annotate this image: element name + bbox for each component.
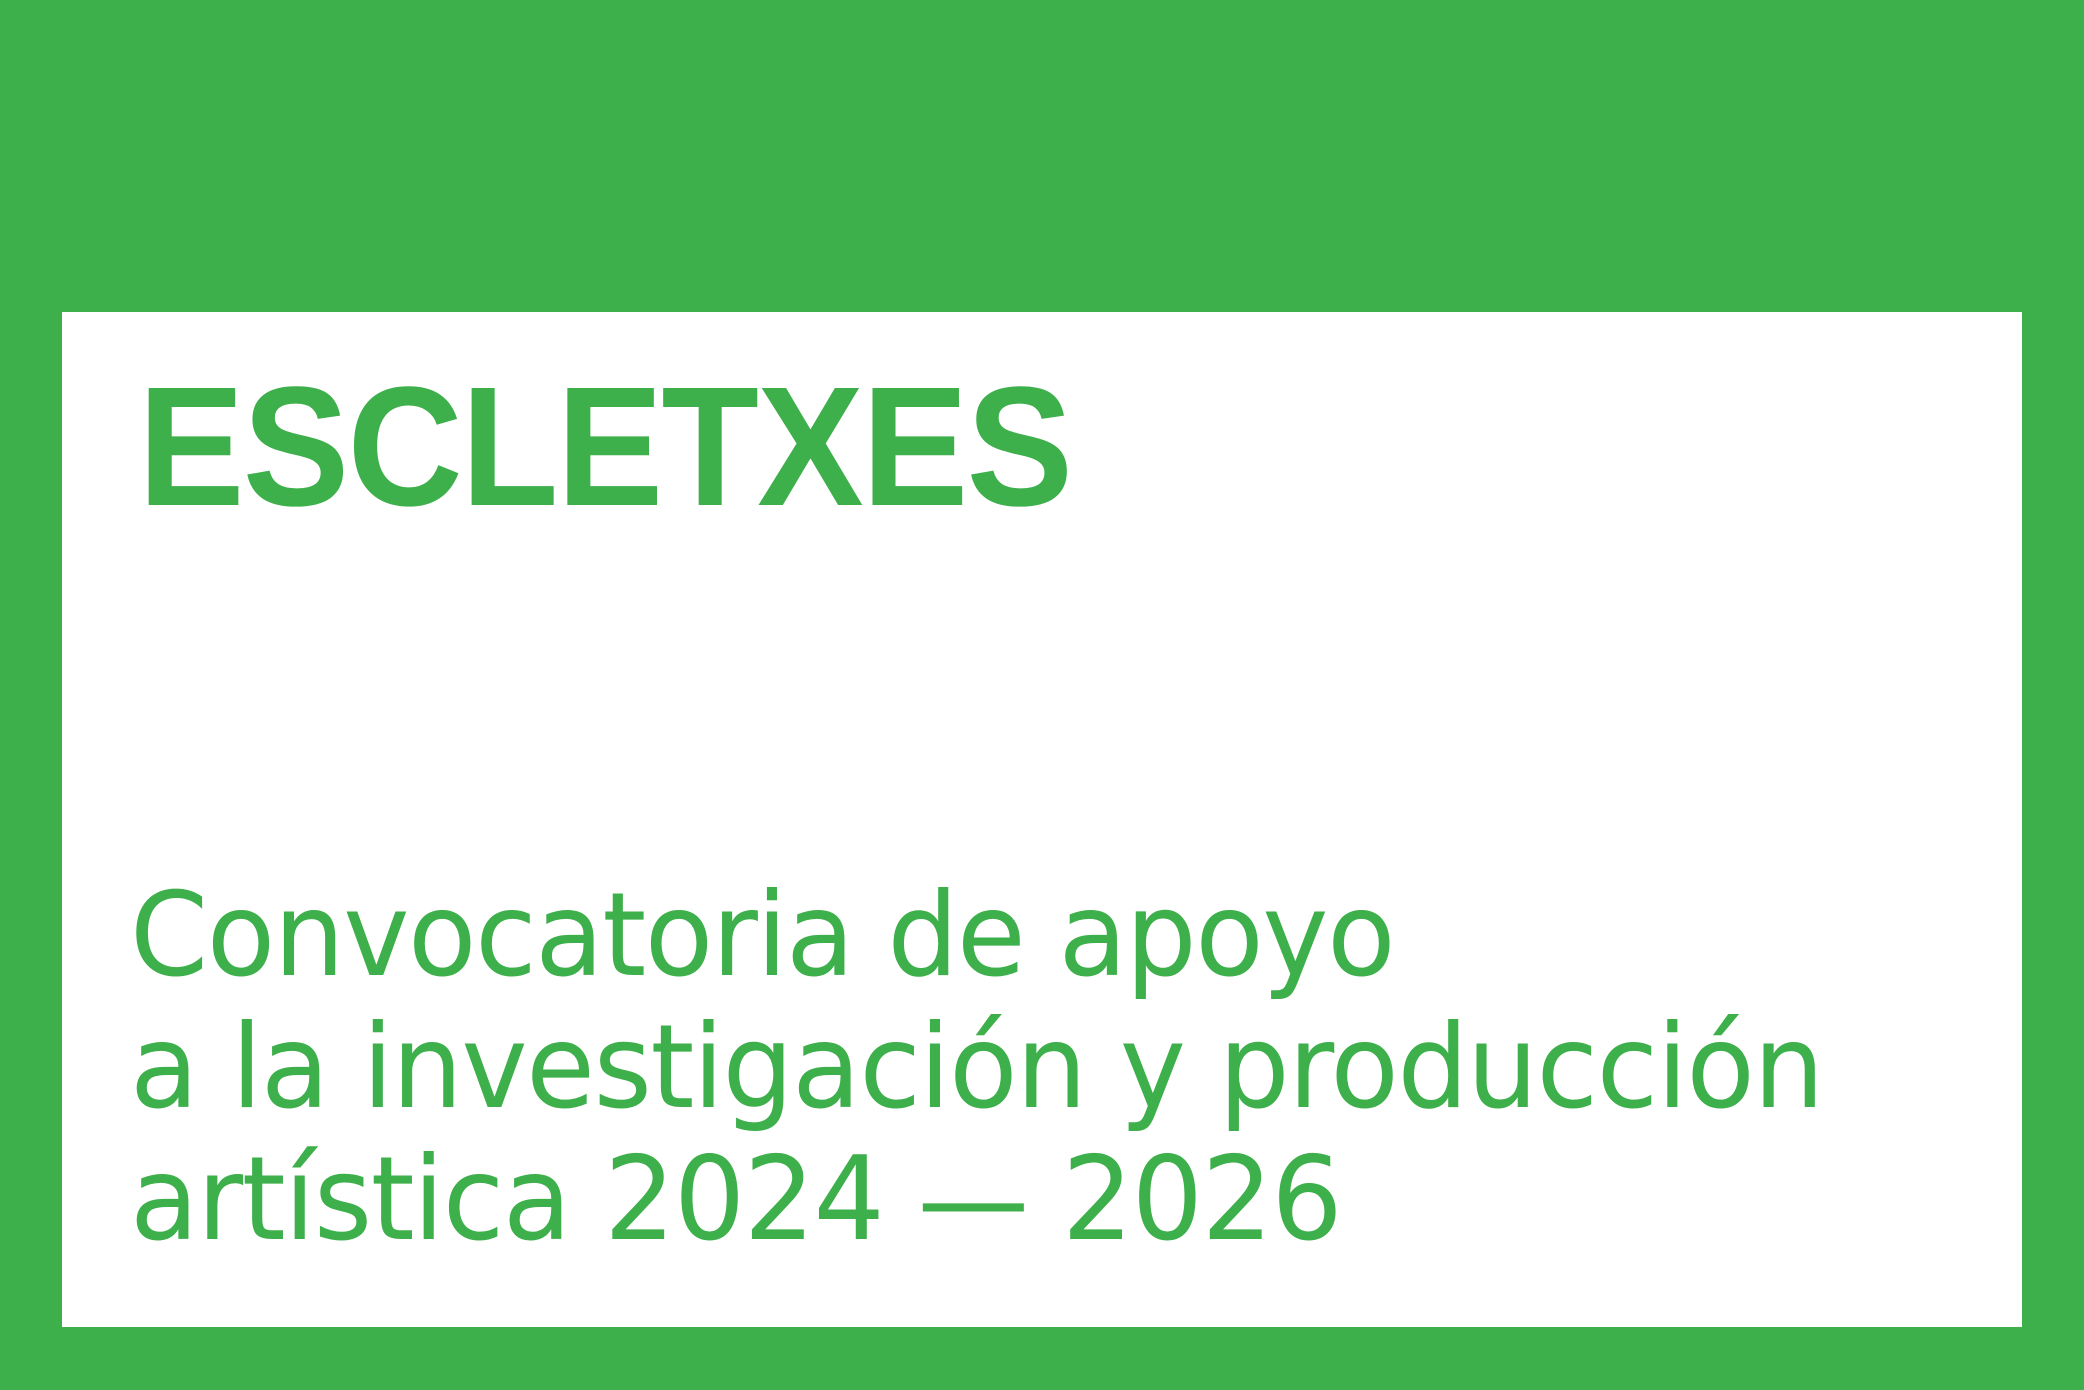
subtitle-line-3: artística 2024 — 2026 <box>130 1134 1823 1266</box>
subtitle-line-2: a la investigación y producción <box>130 1002 1823 1134</box>
subtitle-line-1: Convocatoria de apoyo <box>130 870 1823 1002</box>
subtitle-block: Convocatoria de apoyo a la investigación… <box>130 870 1884 1266</box>
white-content-card: ESCLETXES Convocatoria de apoyo a la inv… <box>62 312 2022 1327</box>
poster-canvas: ESCLETXES Convocatoria de apoyo a la inv… <box>0 0 2084 1390</box>
page-title: ESCLETXES <box>138 362 1071 532</box>
